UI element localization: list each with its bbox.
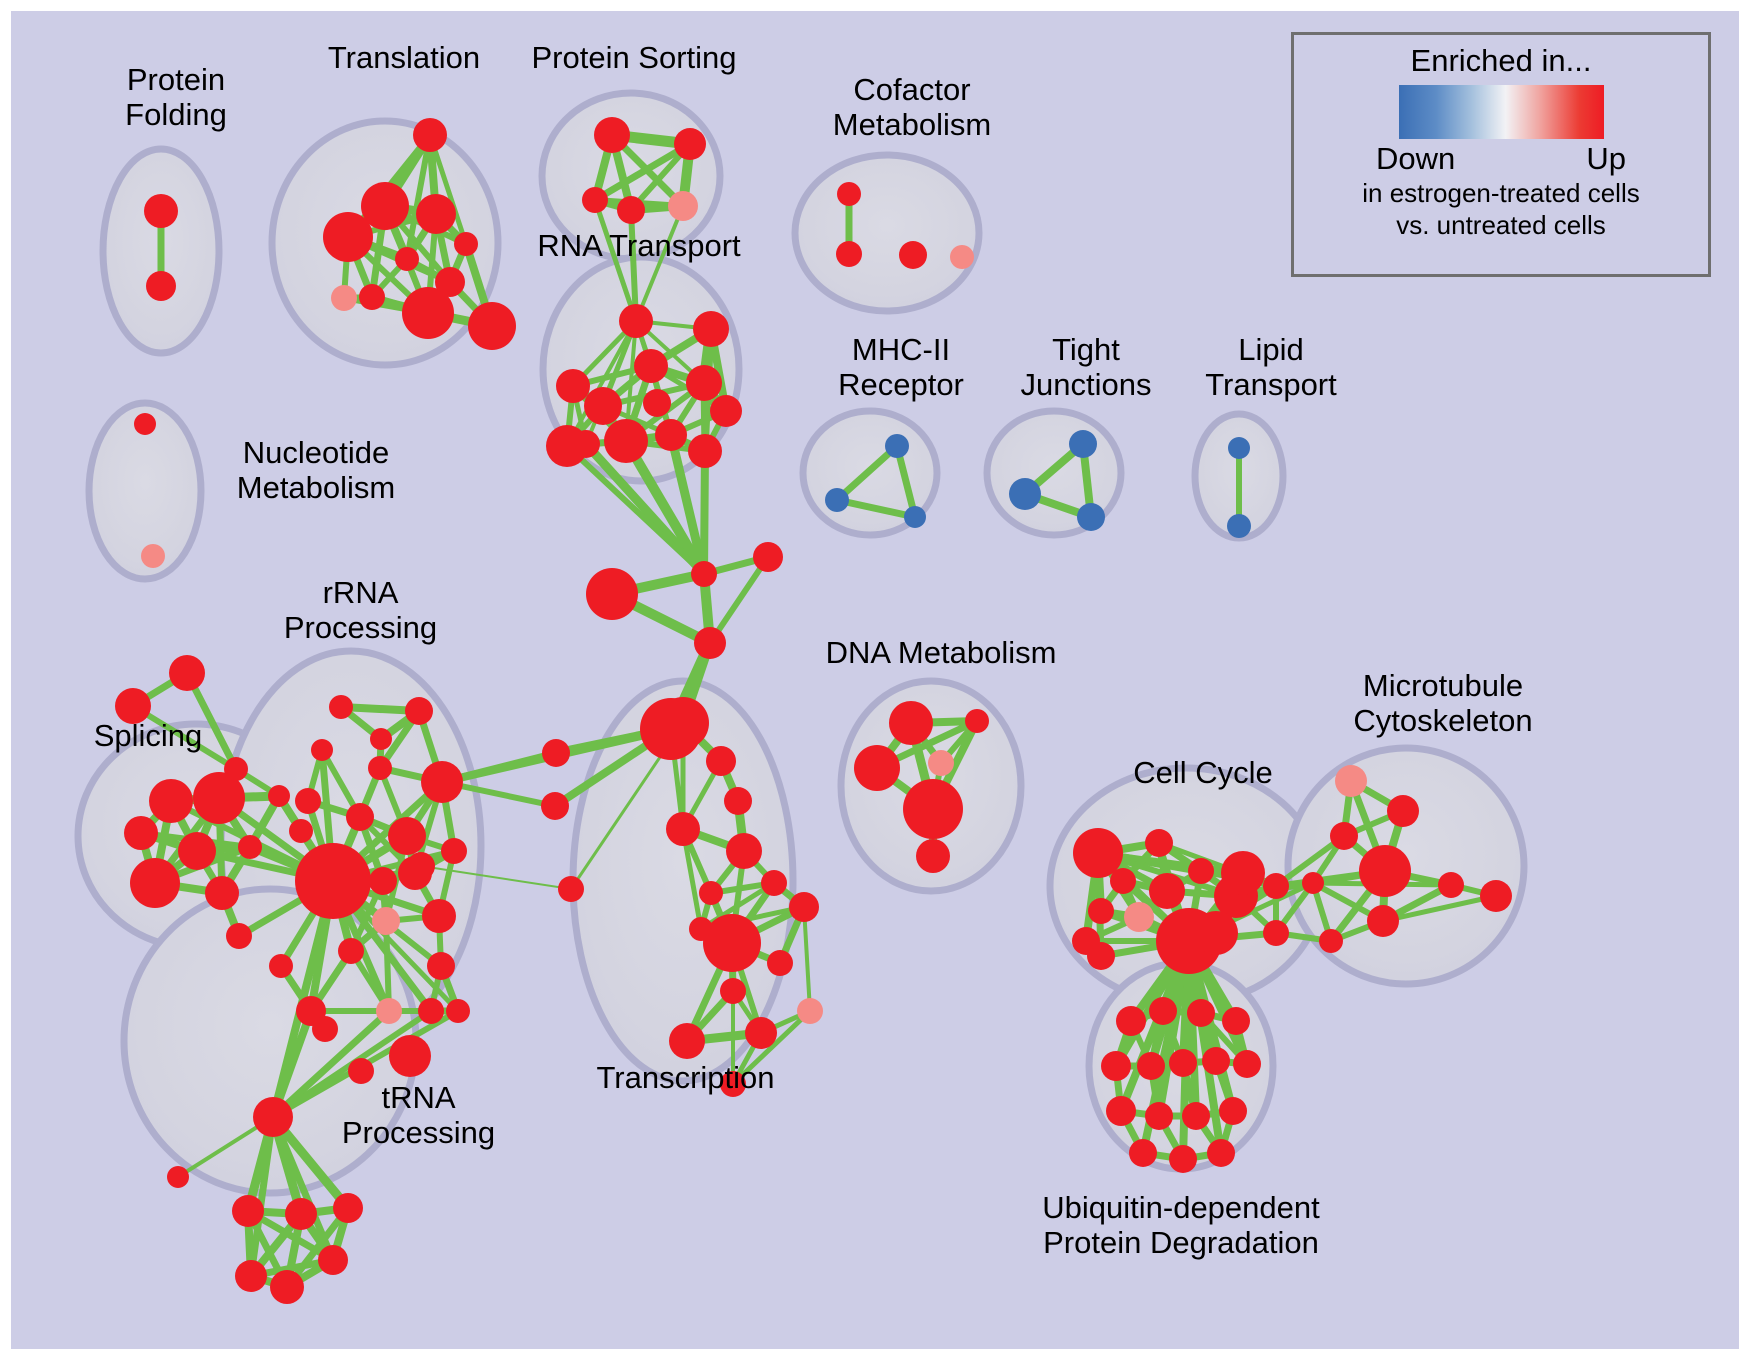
cluster-label-nucleotide-metabolism: Nucleotide Metabolism [201,436,431,505]
cluster-label-tight-junctions: Tight Junctions [986,333,1186,402]
cluster-label-rna-transport: RNA Transport [519,229,759,264]
cluster-label-transcription: Transcription [573,1061,798,1096]
hull-cofactor-metabolism [795,155,979,311]
cluster-label-dna-metabolism: DNA Metabolism [811,636,1071,671]
legend-caption-line1: in estrogen-treated cells [1362,179,1639,209]
cluster-label-lipid-transport: Lipid Transport [1171,333,1371,402]
cluster-label-cofactor-metabolism: Cofactor Metabolism [797,73,1027,142]
legend-color-gradient-bar [1399,85,1604,139]
cluster-label-ubiquitin-protein-degradation: Ubiquitin-dependent Protein Degradation [991,1191,1371,1260]
cluster-label-mhc-ii-receptor: MHC-II Receptor [801,333,1001,402]
cluster-label-cell-cycle: Cell Cycle [1103,756,1303,791]
cluster-label-protein-folding: Protein Folding [71,63,281,132]
network-plot-area: Protein Folding Translation Protein Sort… [11,11,1739,1349]
cluster-label-rrna-processing: rRNA Processing [253,576,468,645]
figure-canvas: Protein Folding Translation Protein Sort… [0,0,1750,1360]
legend-caption-line2: vs. untreated cells [1396,211,1606,241]
legend-endpoint-labels: Down Up [1376,141,1626,177]
cluster-label-splicing: Splicing [53,719,243,754]
cluster-label-protein-sorting: Protein Sorting [509,41,759,76]
cluster-label-trna-processing: tRNA Processing [311,1081,526,1150]
cluster-label-translation: Translation [289,41,519,76]
legend-low-label: Down [1376,141,1455,177]
legend-high-label: Up [1586,141,1626,177]
legend-title: Enriched in... [1411,43,1592,79]
legend-panel: Enriched in... Down Up in estrogen-treat… [1291,32,1711,277]
cluster-label-microtubule-cytoskeleton: Microtubule Cytoskeleton [1303,669,1583,738]
